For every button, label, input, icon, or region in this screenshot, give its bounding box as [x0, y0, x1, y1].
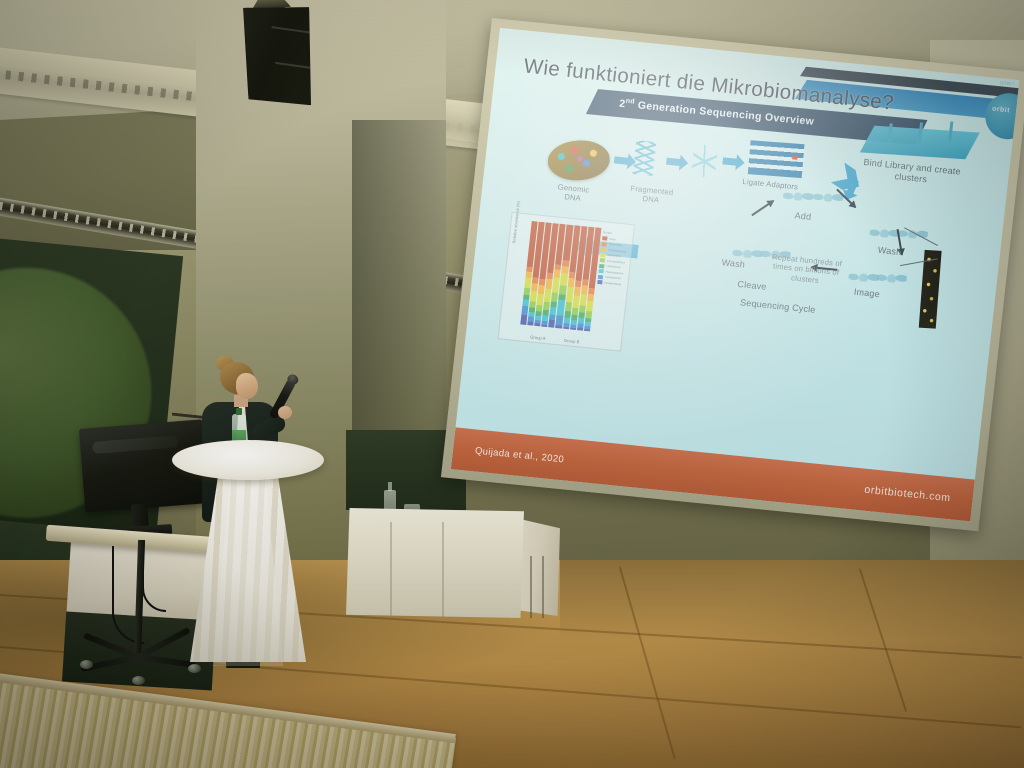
chart-legend-swatch: [601, 247, 606, 251]
carafe-neck: [388, 482, 392, 491]
chart-x-axis-labels: Group AGroup B: [521, 334, 589, 346]
floor-shading-right: [560, 560, 1024, 640]
chart-legend-swatch: [601, 242, 606, 246]
chart-legend-swatch: [602, 236, 607, 240]
slide-citation: Quijada et al., 2020: [474, 445, 564, 465]
projected-slide: orbit ORBIT Wie funktioniert die Mikrobi…: [451, 28, 1020, 522]
label-sequencing-cycle: Sequencing Cycle: [722, 296, 833, 318]
chart-legend-label: Photobacterium: [608, 248, 626, 253]
relative-abundance-chart: Relative abundance (%) Group AGroup B Ge…: [498, 212, 636, 352]
cluster-icon: [848, 262, 880, 283]
cocktail-table-top: [172, 440, 324, 480]
chart-bar-segment: [549, 319, 556, 328]
chart-bar-segment: [534, 323, 540, 327]
fragmented-dna-icon: [691, 144, 718, 178]
label-image: Image: [842, 286, 891, 302]
label-wash-2: Wash: [867, 244, 912, 260]
label-genomic-dna: Genomic DNA: [537, 181, 609, 207]
label-ligate-adaptors: Ligate Adaptors: [722, 175, 819, 194]
flow-arrow-icon: [751, 200, 774, 216]
screen-frame: orbit ORBIT Wie funktioniert die Mikrobi…: [441, 18, 1024, 531]
speaker-seam: [275, 62, 315, 70]
cable: [142, 540, 166, 612]
chart-legend-swatch: [600, 253, 605, 257]
dna-helix-icon: [633, 140, 657, 176]
cluster-icon: [897, 219, 929, 240]
speaker-cabinet: [239, 1, 319, 112]
chart-bar-segment: [530, 291, 537, 302]
cloth-fold: [442, 522, 444, 626]
back-table: [346, 496, 562, 626]
chart-legend-label: Acinetobacter: [605, 276, 621, 281]
cloth-fold: [390, 522, 392, 626]
chart-bar-segment: [556, 325, 562, 329]
chart-bar-segment: [577, 327, 583, 331]
flow-arrow-icon: [722, 153, 746, 171]
table-cloth: [346, 508, 524, 618]
chart-bar-segment: [570, 327, 576, 330]
chart-legend-swatch: [599, 263, 604, 267]
flow-arrow-icon: [665, 153, 689, 171]
cocktail-table: [172, 440, 324, 660]
chart-legend-swatch: [600, 258, 605, 262]
slide-website: orbitbiotech.com: [864, 484, 952, 505]
chart-legend-swatch: [598, 274, 603, 278]
speaker-seam: [271, 26, 311, 34]
screen-glare: [92, 435, 179, 454]
chart-legend-label: Brochothrix: [607, 254, 620, 258]
chart-bar-segment: [541, 324, 547, 327]
chart-legend-swatch: [597, 280, 602, 284]
chart-plot-area: [520, 221, 601, 331]
speaker-hand-holding-mic: [278, 406, 292, 419]
chart-bar-segment: [527, 321, 534, 326]
adaptor-dot-icon: [792, 155, 797, 159]
caster-wheel: [80, 660, 93, 669]
genomic-dna-micrograph-icon: [547, 139, 611, 182]
chart-group-label: Group A: [530, 334, 546, 341]
caster-wheel: [188, 664, 201, 673]
chart-legend-label: Shewanella: [609, 243, 623, 247]
chart-legend-label: Flavobacterium: [605, 270, 623, 275]
chart-legend: GenusOtherShewanellaPhotobacteriumBrocho…: [597, 230, 631, 288]
label-add: Add: [780, 209, 825, 225]
label-fragmented-dna: Fragmented DNA: [610, 182, 694, 209]
cluster-icon: [732, 238, 764, 259]
chart-bar-segment: [556, 314, 563, 325]
chart-legend-label: Other: [609, 237, 616, 241]
projection-screen: orbit ORBIT Wie funktioniert die Mikrobi…: [440, 18, 1024, 539]
chart-legend-item: Pseudomonas: [597, 280, 625, 287]
label-repeat-cycles: Repeat hundreds of times on billions of …: [766, 252, 847, 288]
chart-legend-swatch: [598, 269, 603, 273]
cluster-icon: [876, 263, 908, 284]
chart-bar-segment: [563, 327, 569, 330]
caster-wheel: [132, 676, 145, 685]
label-bind-library: Bind Library and create clusters: [846, 155, 978, 190]
speaker-face: [236, 373, 258, 399]
bottle-cap: [236, 408, 242, 415]
label-wash-1: Wash: [711, 256, 756, 272]
chart-bar-segment: [586, 301, 593, 312]
library-stack-icon: [748, 140, 805, 178]
chart-bar-segment: [584, 329, 590, 332]
conference-photo-scene: orbit ORBIT Wie funktioniert die Mikrobi…: [0, 0, 1024, 768]
chart-bar-segment: [520, 314, 527, 325]
chart-legend-label: Carnobacterium: [607, 259, 626, 264]
chart-legend-label: Lactococcus: [606, 265, 621, 269]
chart-y-axis-label: Relative abundance (%): [511, 187, 522, 243]
chart-legend-label: Pseudomonas: [604, 281, 621, 286]
chart-group-label: Group B: [564, 338, 580, 345]
logo-mark-text: orbit: [992, 106, 1011, 115]
ceiling-speaker: [230, 0, 334, 118]
